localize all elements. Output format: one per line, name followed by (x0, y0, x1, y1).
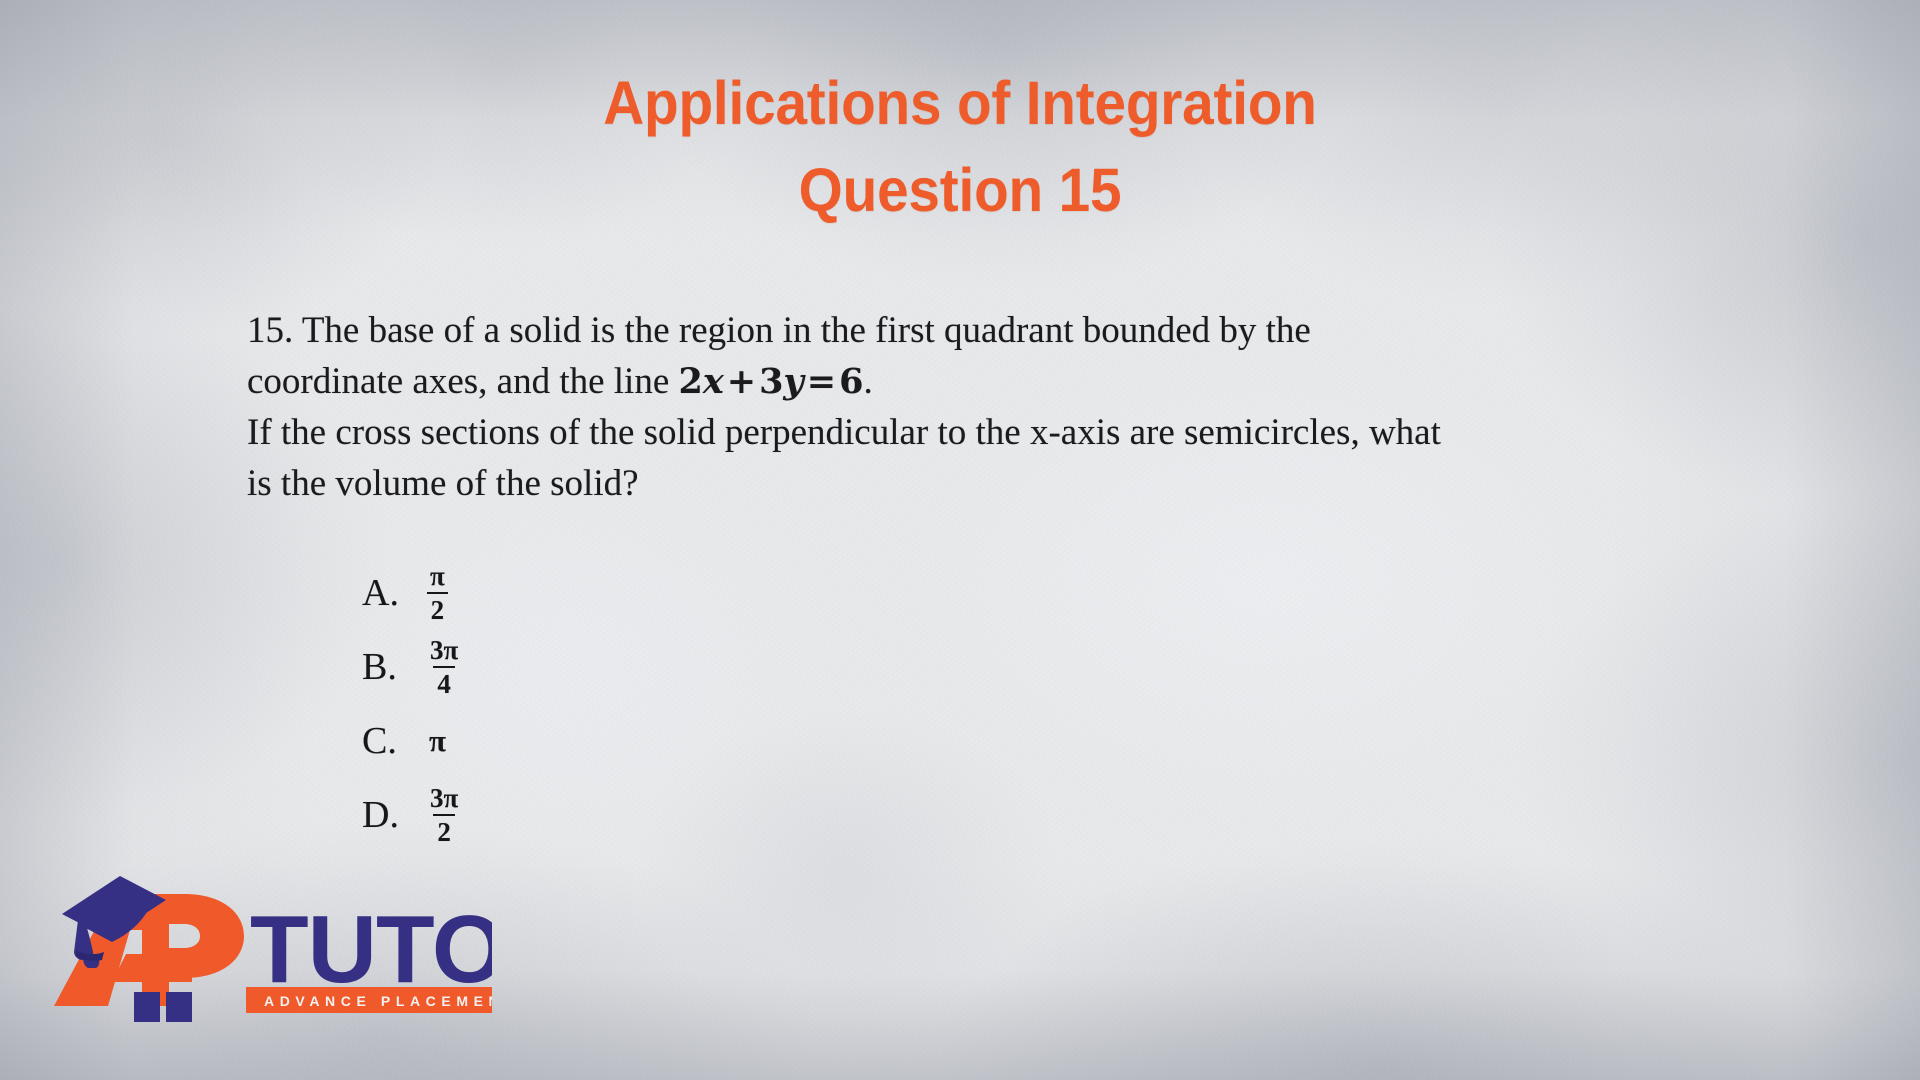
question-line-2: coordinate axes, and the line 2x+3y=6. (247, 356, 1697, 407)
answer-choice-c[interactable]: C. π (362, 704, 462, 778)
answer-choices: A. π 2 B. 3π 4 C. π D. (362, 556, 462, 852)
fraction-denominator: 4 (433, 666, 455, 699)
equation-plus: + (724, 361, 759, 402)
equation-var-x: x (703, 361, 724, 402)
equation-coef-x: 2 (679, 361, 703, 402)
equation-coef-y: 3 (759, 361, 783, 402)
fraction-numerator: π (426, 562, 449, 592)
fraction-numerator: 3π (426, 636, 462, 666)
fraction-denominator: 2 (427, 592, 449, 625)
fraction-3pi-over-4: 3π 4 (426, 636, 462, 698)
question-line-1: 15. The base of a solid is the region in… (247, 305, 1697, 356)
question-text: 15. The base of a solid is the region in… (247, 305, 1697, 509)
answer-choice-b-value: 3π 4 (426, 636, 462, 698)
question-line-2-period: . (863, 361, 872, 402)
answer-choice-a-value: π 2 (426, 562, 449, 624)
logo-tagline: ADVANCE PLACEMENTS (264, 993, 492, 1009)
answer-choice-d[interactable]: D. 3π 2 (362, 778, 462, 852)
answer-choice-b[interactable]: B. 3π 4 (362, 630, 462, 704)
question-line-4: is the volume of the solid? (247, 458, 1697, 509)
question-line-2-text: coordinate axes, and the line (247, 361, 679, 402)
equation-var-y: y (783, 361, 803, 402)
question-line-4-text: is the volume of the solid? (247, 463, 639, 504)
answer-choice-b-letter: B. (362, 645, 420, 689)
fraction-numerator: 3π (426, 784, 462, 814)
fraction-denominator: 2 (433, 814, 455, 847)
equation-rhs: 6 (839, 361, 863, 402)
answer-choice-a-letter: A. (362, 571, 420, 615)
answer-choice-d-letter: D. (362, 793, 420, 837)
question-line-3-text: If the cross sections of the solid perpe… (247, 412, 1441, 453)
brand-logo[interactable]: TUTOR ADVANCE PLACEMENTS (42, 856, 492, 1036)
slide-canvas: Applications of Integration Question 15 … (0, 0, 1920, 1080)
answer-choice-d-value: 3π 2 (426, 784, 462, 846)
equation-inline: 2x+3y=6 (679, 361, 864, 402)
answer-choice-c-letter: C. (362, 719, 420, 763)
logo-wordmark: TUTOR (250, 896, 492, 1003)
question-line-1-text: 15. The base of a solid is the region in… (247, 310, 1311, 351)
page-title: Applications of Integration (67, 62, 1853, 145)
page-subtitle: Question 15 (67, 149, 1853, 232)
question-line-3: If the cross sections of the solid perpe… (247, 407, 1697, 458)
fraction-pi-over-2: π 2 (426, 562, 449, 624)
fraction-3pi-over-2: 3π 2 (426, 784, 462, 846)
title-block: Applications of Integration Question 15 (0, 62, 1920, 232)
equation-equals: = (804, 361, 839, 402)
answer-choice-c-value: π (426, 723, 446, 759)
answer-choice-a[interactable]: A. π 2 (362, 556, 462, 630)
pi-symbol: π (426, 723, 446, 759)
